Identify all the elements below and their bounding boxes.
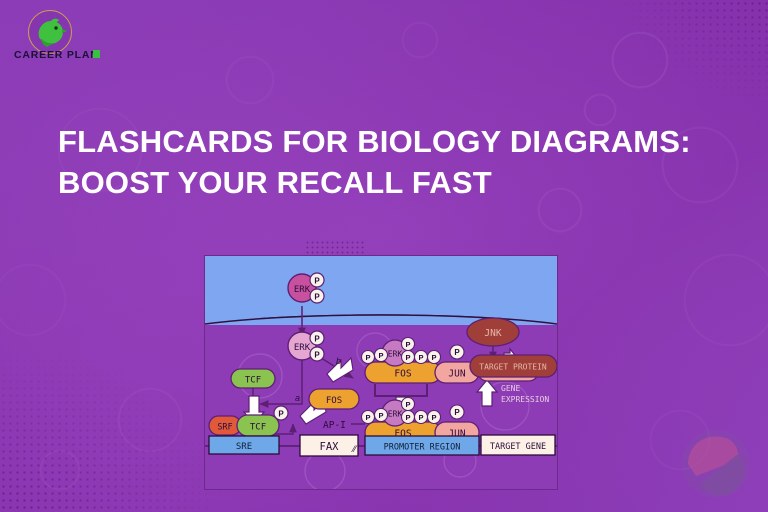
svg-text:P: P [365,353,370,362]
page-title-line-1: Flashcards for Biology Diagrams: [58,122,718,163]
node-label: JUN [448,369,465,380]
node-jnk: JNK [467,318,519,346]
svg-text:P: P [454,348,460,357]
label-gene-expression-line1: GENE [501,384,520,393]
phosphate-label: P [314,351,320,360]
svg-text:P: P [418,413,423,422]
svg-text:P: P [431,413,436,422]
phosphate-label: P [314,277,320,286]
page-title: Flashcards for Biology Diagrams: Boost Y… [58,122,718,204]
node-label: ERK [388,410,403,419]
node-label: SRF [217,423,232,433]
svg-text:P: P [378,351,383,360]
node-label: FOS [394,369,411,380]
page-title-line-2: Boost Your Recall Fast [58,163,718,204]
figure-dot-texture [305,240,365,254]
node-label: PROMOTER REGION [384,443,461,453]
node-promoter-region: PROMOTER REGION [365,436,479,455]
path-label-b: b [336,356,341,366]
phosphate-label: P [278,410,284,419]
node-label: TARGET PROTEIN [479,363,547,372]
node-label: TCF [250,423,266,433]
logo-accent-square [93,50,100,58]
svg-text:P: P [418,353,423,362]
phosphate-label: P [314,293,320,302]
svg-text:P: P [378,411,383,420]
node-target-gene: TARGET GENE [481,435,555,455]
label-ap1: AP-I [323,420,346,431]
node-fos-free: FOS [309,389,359,409]
label-gene-expression-line2: EXPRESSION [501,395,549,404]
extracellular-region [205,256,557,318]
node-label: FAX [320,441,340,453]
logo-wordmark: CAREER PLAN [14,49,99,61]
svg-text:P: P [405,340,410,349]
green-bird-icon [33,16,67,48]
node-label: SRE [236,442,252,452]
svg-text:P: P [365,413,370,422]
svg-text:P: P [405,400,410,409]
brand-logo[interactable]: CAREER PLAN [6,10,114,62]
node-label: FOS [326,396,342,406]
node-label: JNK [484,328,501,339]
biology-diagram: ERK P P ERK P P a b TCF [204,255,558,490]
brand-watermark [676,424,756,504]
node-srf: SRF [209,416,241,435]
node-tcf: TCF [231,369,275,388]
svg-text:P: P [405,353,410,362]
node-label: ERK [388,350,403,359]
svg-text:P: P [454,408,460,417]
phosphate-label: P [314,335,320,344]
node-label: ERK [294,343,311,353]
slide-canvas: CAREER PLAN Flashcards for Biology Diagr… [0,0,768,512]
svg-text:P: P [431,353,436,362]
biology-diagram-svg: ERK P P ERK P P a b TCF [205,256,557,489]
node-label: TCF [245,376,261,386]
svg-text:P: P [405,413,410,422]
node-sre: SRE [209,436,279,454]
target-protein: TARGET PROTEIN [470,355,557,377]
node-fax: FAX [300,435,358,456]
node-label: ERK [294,285,311,295]
node-label: TARGET GENE [490,442,546,452]
path-label-a: a [295,393,300,403]
